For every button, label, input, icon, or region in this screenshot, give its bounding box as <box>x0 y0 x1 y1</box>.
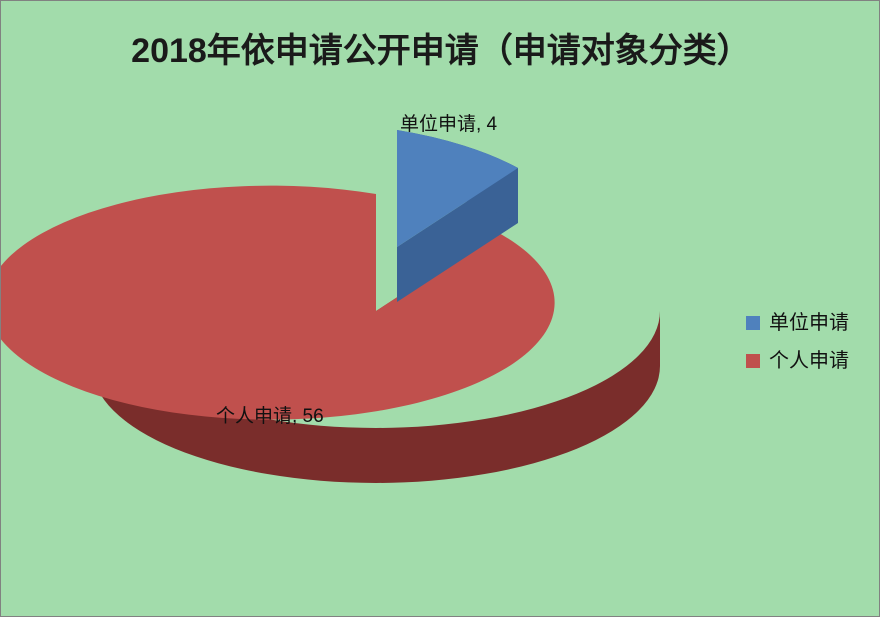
data-label-unit: 单位申请, 4 <box>400 109 497 136</box>
data-label-person: 个人申请, 56 <box>216 401 324 428</box>
legend-swatch-icon-person <box>746 354 760 368</box>
legend-label-person: 个人申请 <box>769 351 849 371</box>
legend-item-unit[interactable]: 单位申请 <box>746 304 876 342</box>
legend: 单位申请 个人申请 <box>746 304 876 380</box>
legend-item-person[interactable]: 个人申请 <box>746 342 876 380</box>
pie-chart-figure: 2018年依申请公开申请（申请对象分类） 单位申请, 4 <box>0 0 880 617</box>
legend-label-unit: 单位申请 <box>769 313 849 333</box>
legend-swatch-icon-unit <box>746 316 760 330</box>
